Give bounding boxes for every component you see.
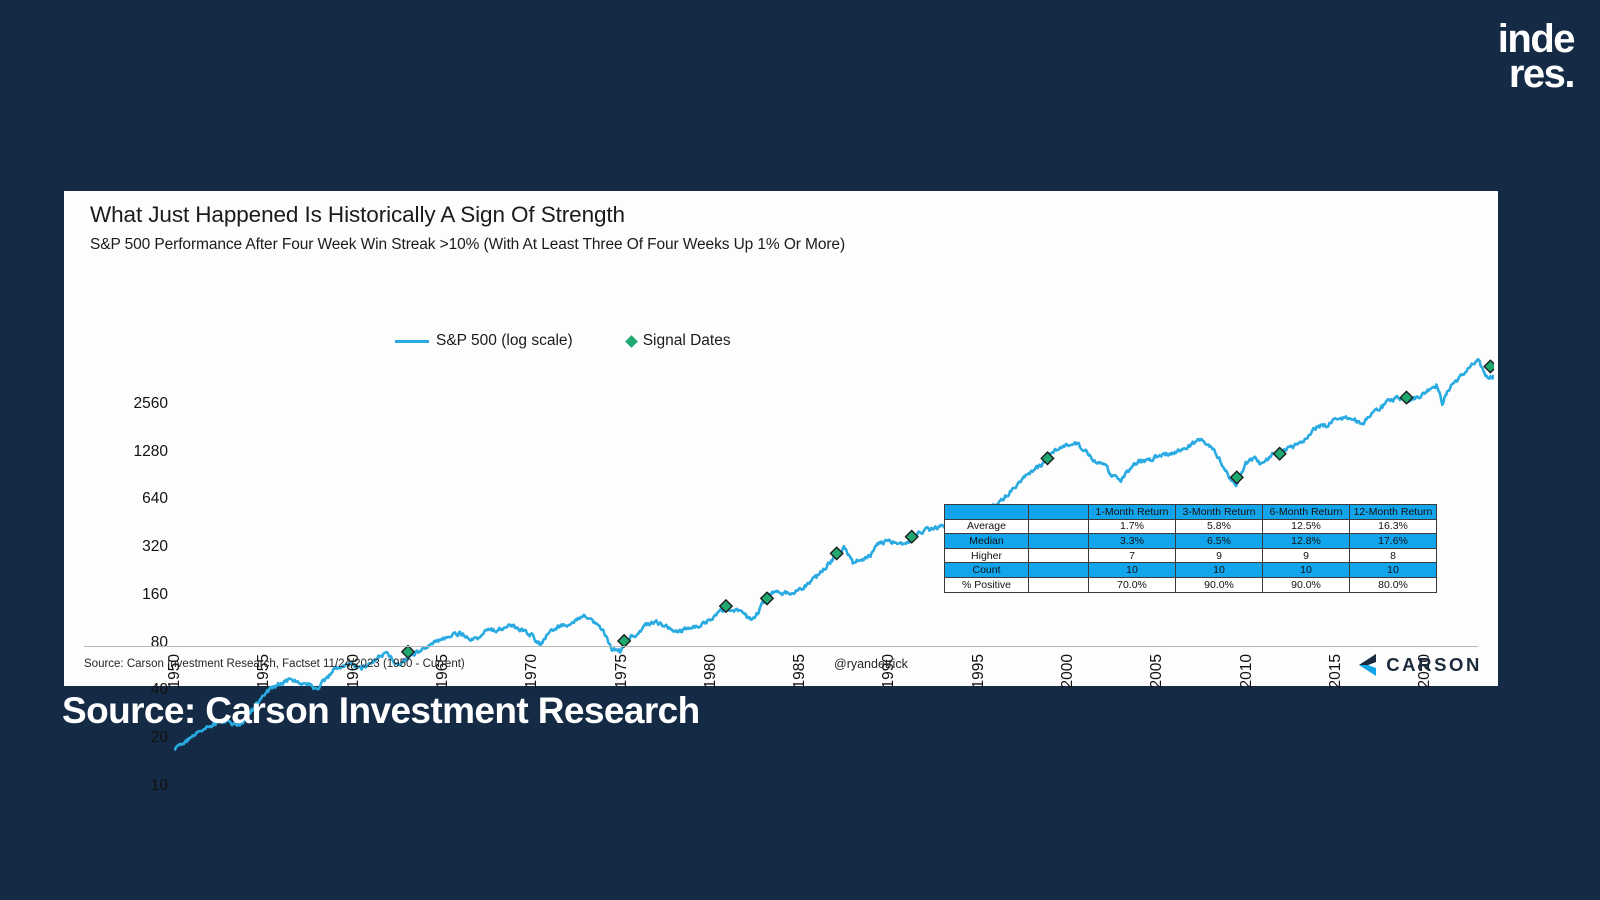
table-row-label: Median: [945, 534, 1029, 549]
y-tick-label: 10: [151, 777, 168, 795]
table-cell: 9: [1176, 548, 1263, 563]
table-row: Median3.3%6.5%12.8%17.6%: [945, 534, 1437, 549]
table-cell: 7: [1089, 548, 1176, 563]
table-cell: 12.8%: [1263, 534, 1350, 549]
inderes-logo: inde res.: [1498, 22, 1574, 92]
line-swatch-icon: [395, 340, 429, 343]
table-cell: 90.0%: [1263, 577, 1350, 592]
y-tick-label: 320: [142, 538, 168, 556]
inderes-logo-line2: res.: [1498, 57, 1574, 92]
y-tick-label: 1280: [134, 443, 168, 461]
table-cell: 10: [1089, 563, 1176, 578]
chart-legend: S&P 500 (log scale) Signal Dates: [395, 332, 731, 350]
table-spacer-cell: [1029, 563, 1089, 578]
table-cell: 3.3%: [1089, 534, 1176, 549]
diamond-swatch-icon: [625, 335, 638, 348]
table-cell: 16.3%: [1350, 519, 1437, 534]
table-cell: 6.5%: [1176, 534, 1263, 549]
legend-item-sp500: S&P 500 (log scale): [395, 332, 573, 350]
signal-date-marker: [1484, 360, 1494, 372]
table-column-header: 3-Month Return: [1176, 505, 1263, 520]
y-tick-label: 2560: [134, 395, 168, 413]
carson-chevron-icon: [1351, 653, 1377, 677]
table-column-header: 6-Month Return: [1263, 505, 1350, 520]
table-column-header: 12-Month Return: [1350, 505, 1437, 520]
table-cell: 80.0%: [1350, 577, 1437, 592]
table-spacer-cell: [1029, 534, 1089, 549]
table-spacer-cell: [1029, 548, 1089, 563]
y-tick-label: 640: [142, 490, 168, 508]
slide-caption: Source: Carson Investment Research: [62, 690, 700, 732]
returns-stats-table: 1-Month Return3-Month Return6-Month Retu…: [944, 504, 1437, 593]
table-cell: 17.6%: [1350, 534, 1437, 549]
source-note: Source: Carson Investment Research, Fact…: [84, 658, 465, 670]
card-footer: Source: Carson Investment Research, Fact…: [64, 646, 1498, 686]
table-cell: 1.7%: [1089, 519, 1176, 534]
carson-logo: CARSON: [1351, 653, 1482, 677]
table-row-label: Higher: [945, 548, 1029, 563]
table-row: % Positive70.0%90.0%90.0%80.0%: [945, 577, 1437, 592]
table-column-header: 1-Month Return: [1089, 505, 1176, 520]
chart-card: What Just Happened Is Historically A Sig…: [64, 191, 1498, 686]
slide-canvas: inde res. What Just Happened Is Historic…: [0, 0, 1600, 900]
table-row: Average1.7%5.8%12.5%16.3%: [945, 519, 1437, 534]
table-cell: 10: [1176, 563, 1263, 578]
table-spacer-cell: [1029, 519, 1089, 534]
footer-divider: [84, 646, 1478, 647]
table-cell: 8: [1350, 548, 1437, 563]
legend-item-signal-dates: Signal Dates: [627, 332, 731, 350]
table-row-label: % Positive: [945, 577, 1029, 592]
chart-title: What Just Happened Is Historically A Sig…: [90, 202, 625, 228]
table-column-header: [945, 505, 1029, 520]
table-cell: 5.8%: [1176, 519, 1263, 534]
table-spacer-cell: [1029, 577, 1089, 592]
table-cell: 10: [1263, 563, 1350, 578]
table-header-row: 1-Month Return3-Month Return6-Month Retu…: [945, 505, 1437, 520]
table-cell: 70.0%: [1089, 577, 1176, 592]
legend-label-signal-dates: Signal Dates: [643, 332, 731, 350]
legend-label-sp500: S&P 500 (log scale): [436, 332, 573, 350]
table-row: Count10101010: [945, 563, 1437, 578]
carson-wordmark: CARSON: [1386, 654, 1482, 676]
table-column-header: [1029, 505, 1089, 520]
signal-date-marker: [1400, 391, 1412, 403]
table-cell: 90.0%: [1176, 577, 1263, 592]
table-row-label: Average: [945, 519, 1029, 534]
y-tick-label: 160: [142, 586, 168, 604]
author-handle: @ryandetrick: [834, 657, 908, 671]
table-row: Higher7998: [945, 548, 1437, 563]
chart-subtitle: S&P 500 Performance After Four Week Win …: [90, 236, 845, 254]
table-cell: 12.5%: [1263, 519, 1350, 534]
table-row-label: Count: [945, 563, 1029, 578]
table-cell: 9: [1263, 548, 1350, 563]
table-cell: 10: [1350, 563, 1437, 578]
